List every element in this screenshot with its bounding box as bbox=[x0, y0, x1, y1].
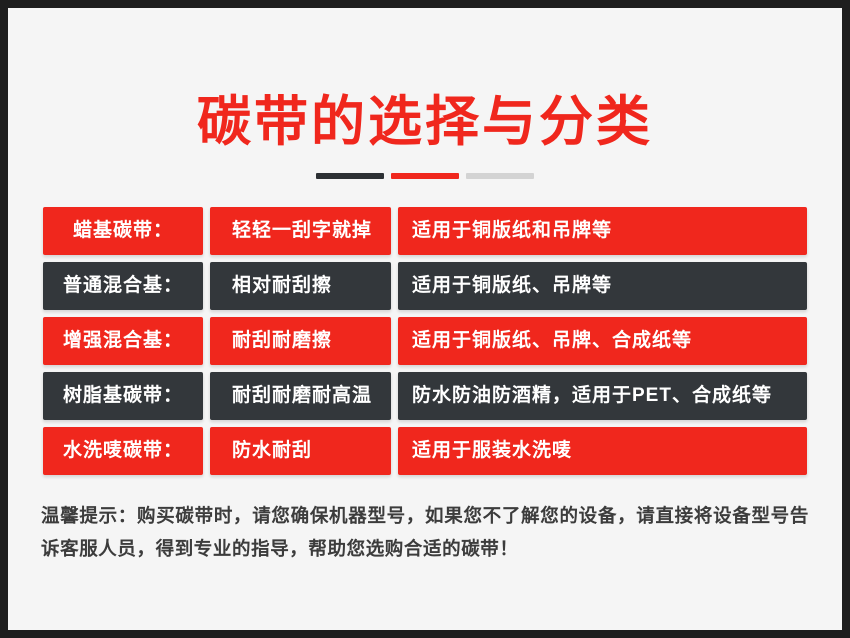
ribbon-type-label: 普通混合基： bbox=[43, 262, 203, 310]
table-row: 水洗唛碳带： 防水耐刮 适用于服装水洗唛 bbox=[43, 427, 807, 475]
divider-bar-red bbox=[391, 173, 459, 179]
footer-note: 温馨提示：购买碳带时，请您确保机器型号，如果您不了解您的设备，请直接将设备型号告… bbox=[41, 499, 809, 565]
table-row: 普通混合基： 相对耐刮擦 适用于铜版纸、吊牌等 bbox=[43, 262, 807, 310]
ribbon-usage-label: 适用于铜版纸、吊牌等 bbox=[398, 262, 807, 310]
ribbon-feature-label: 耐刮耐磨擦 bbox=[210, 317, 391, 365]
ribbon-usage-label: 适用于服装水洗唛 bbox=[398, 427, 807, 475]
ribbon-feature-label: 轻轻一刮字就掉 bbox=[210, 207, 391, 255]
table-row: 树脂基碳带： 耐刮耐磨耐高温 防水防油防酒精，适用于PET、合成纸等 bbox=[43, 372, 807, 420]
title-section: 碳带的选择与分类 bbox=[8, 8, 842, 179]
ribbon-feature-label: 耐刮耐磨耐高温 bbox=[210, 372, 391, 420]
page-title: 碳带的选择与分类 bbox=[8, 94, 842, 151]
ribbon-type-label: 增强混合基： bbox=[43, 317, 203, 365]
title-divider bbox=[8, 173, 842, 179]
ribbon-type-label: 蜡基碳带： bbox=[43, 207, 203, 255]
ribbon-usage-label: 适用于铜版纸、吊牌、合成纸等 bbox=[398, 317, 807, 365]
poster-canvas: 碳带的选择与分类 蜡基碳带： 轻轻一刮字就掉 适用于铜版纸和吊牌等 普通混合基：… bbox=[8, 8, 842, 630]
ribbon-usage-label: 防水防油防酒精，适用于PET、合成纸等 bbox=[398, 372, 807, 420]
divider-bar-dark bbox=[316, 173, 384, 179]
ribbon-type-label: 树脂基碳带： bbox=[43, 372, 203, 420]
table-row: 增强混合基： 耐刮耐磨擦 适用于铜版纸、吊牌、合成纸等 bbox=[43, 317, 807, 365]
ribbon-feature-label: 相对耐刮擦 bbox=[210, 262, 391, 310]
ribbon-comparison-table: 蜡基碳带： 轻轻一刮字就掉 适用于铜版纸和吊牌等 普通混合基： 相对耐刮擦 适用… bbox=[43, 207, 807, 475]
ribbon-type-label: 水洗唛碳带： bbox=[43, 427, 203, 475]
ribbon-usage-label: 适用于铜版纸和吊牌等 bbox=[398, 207, 807, 255]
table-row: 蜡基碳带： 轻轻一刮字就掉 适用于铜版纸和吊牌等 bbox=[43, 207, 807, 255]
ribbon-feature-label: 防水耐刮 bbox=[210, 427, 391, 475]
divider-bar-gray bbox=[466, 173, 534, 179]
